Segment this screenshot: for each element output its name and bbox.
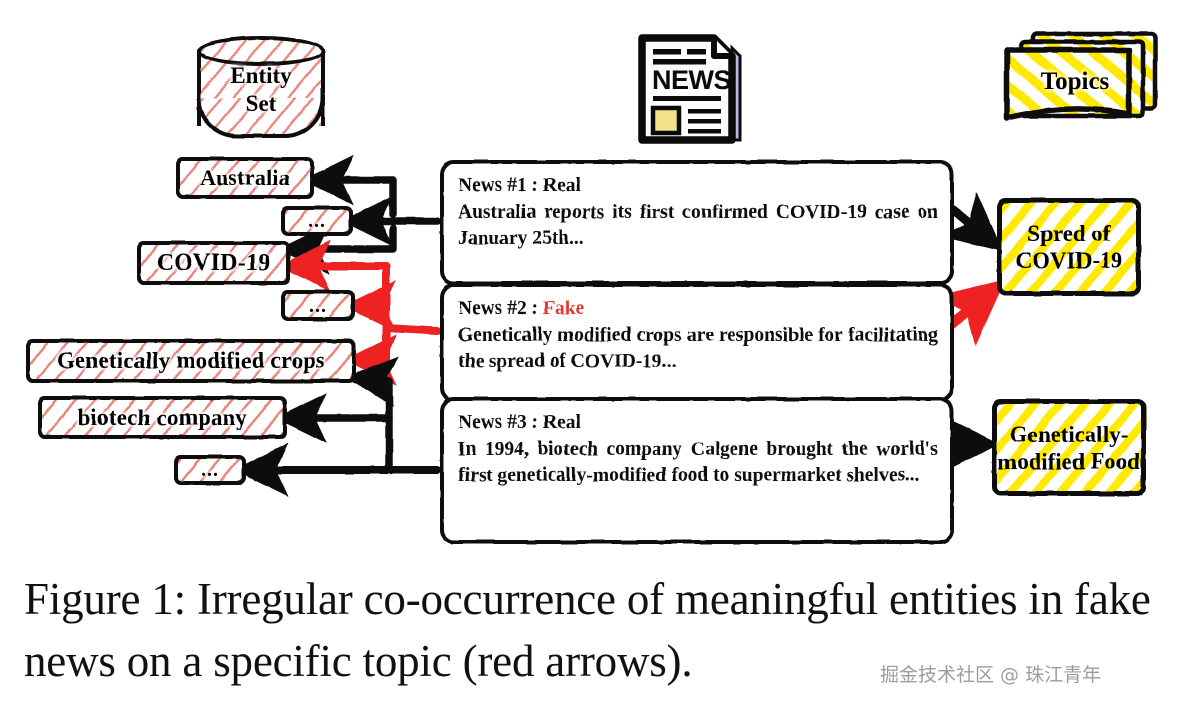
entity-label: biotech company <box>78 405 248 431</box>
topic-label-line2: modified Food <box>998 448 1140 475</box>
news-body: Australia reports its first confirmed CO… <box>458 200 938 253</box>
news-masthead: NEWS <box>652 65 731 95</box>
entity-set-cylinder: Entity Set <box>197 36 325 138</box>
arrow-news3-to-gm-crops <box>357 378 389 418</box>
entity-box-ellipsis-3[interactable]: ... <box>174 455 246 485</box>
topic-box-spread-of-covid-19[interactable]: Spred of COVID-19 <box>997 198 1141 296</box>
news-header: News #1 : Real <box>458 173 938 200</box>
news-body: Genetically modified crops are responsib… <box>458 323 938 376</box>
figure-canvas: Entity Set NEWS <box>0 0 1200 712</box>
news-header: News #2 : Fake <box>458 296 938 323</box>
entity-box-ellipsis-1[interactable]: ... <box>281 206 353 236</box>
entity-set-label: Entity Set <box>197 62 325 118</box>
entity-box-australia[interactable]: Australia <box>176 157 314 199</box>
topic-label-line1: Genetically- <box>1010 421 1129 448</box>
news-veracity-badge: Real <box>543 175 581 196</box>
news-header-prefix: News #2 : <box>458 298 543 319</box>
news-body: In 1994, biotech company Calgene brought… <box>458 437 938 490</box>
topic-label-line1: Spred of <box>1027 220 1110 247</box>
watermark: 掘金技术社区 @ 珠江青年 <box>880 660 1101 687</box>
entity-box-covid-19[interactable]: COVID-19 <box>137 241 290 285</box>
news-veracity-badge: Fake <box>543 298 584 319</box>
entity-label: ... <box>308 216 326 226</box>
news-card-1[interactable]: News #1 : Real Australia reports its fir… <box>440 160 954 285</box>
topics-stack-icon: Topics <box>995 28 1165 140</box>
topic-box-genetically-modified-food[interactable]: Genetically- modified Food <box>992 399 1146 496</box>
news-veracity-badge: Real <box>543 412 581 433</box>
entity-box-ellipsis-2[interactable]: ... <box>281 290 355 321</box>
entity-label: Australia <box>200 165 290 191</box>
entity-box-gm-crops[interactable]: Genetically modified crops <box>26 339 356 383</box>
entity-label: ... <box>201 465 219 475</box>
news-header-prefix: News #3 : <box>458 412 543 433</box>
news-header: News #3 : Real <box>458 410 938 437</box>
news-header-prefix: News #1 : <box>458 175 543 196</box>
arrow-news2-trunk <box>386 328 437 331</box>
entity-label: Genetically modified crops <box>57 348 325 374</box>
news-card-3[interactable]: News #3 : Real In 1994, biotech company … <box>440 397 954 544</box>
news-paper-icon: NEWS <box>628 26 746 146</box>
entity-label: COVID-19 <box>157 250 271 277</box>
topics-stack-label: Topics <box>995 68 1155 96</box>
entity-box-biotech-company[interactable]: biotech company <box>38 396 287 439</box>
entity-label: ... <box>309 301 327 311</box>
arrow-news2-to-gm-crops <box>356 328 386 360</box>
arrow-news3-to-biotech <box>287 418 389 470</box>
topic-label-line2: COVID-19 <box>1015 247 1122 274</box>
news-card-2[interactable]: News #2 : Fake Genetically modified crop… <box>440 283 954 402</box>
